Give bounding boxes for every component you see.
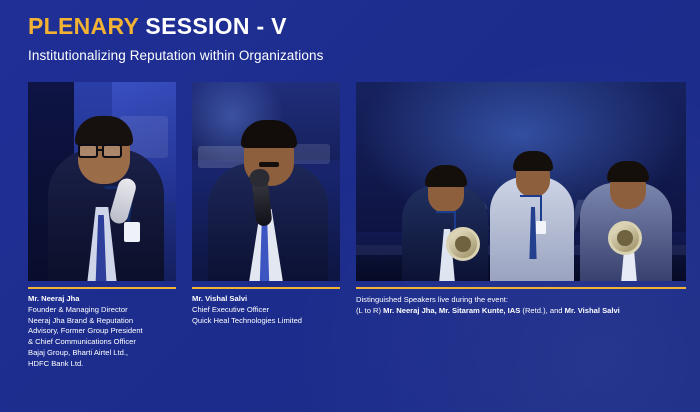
caption-rule-1	[28, 287, 176, 289]
page-title-rest: SESSION - V	[139, 13, 287, 39]
award-plaque-right	[608, 221, 642, 255]
caption-rule-3	[356, 287, 686, 289]
page-subtitle: Institutionalizing Reputation within Org…	[28, 48, 680, 63]
caption-1-line-3: Advisory, Former Group President	[28, 326, 178, 337]
person-neeraj-jha	[402, 149, 488, 281]
page-title: PLENARY SESSION - V	[28, 14, 680, 39]
caption-3: Distinguished Speakers live during the e…	[356, 294, 686, 317]
caption-3-heading: Distinguished Speakers live during the e…	[356, 294, 686, 305]
caption-1-line-6: HDFC Bank Ltd.	[28, 359, 178, 370]
caption-3-names-2: Mr. Vishal Salvi	[565, 306, 620, 315]
caption-3-rich: (L to R) Mr. Neeraj Jha, Mr. Sitaram Kun…	[356, 305, 686, 316]
photo-vishal-salvi-speaking	[192, 82, 340, 281]
person-vishal-salvi	[580, 147, 672, 281]
photo-distinguished-speakers-group: SCM	[356, 82, 686, 281]
caption-2: Mr. Vishal Salvi Chief Executive Officer…	[192, 294, 342, 326]
caption-1-line-1: Founder & Managing Director	[28, 305, 178, 316]
caption-1-line-5: Bajaj Group, Bharti Airtel Ltd.,	[28, 348, 178, 359]
caption-3-lr: (L to R)	[356, 306, 383, 315]
caption-1-line-4: & Chief Communications Officer	[28, 337, 178, 348]
caption-1-line-2: Neeraj Jha Brand & Reputation	[28, 316, 178, 327]
caption-3-retd: (Retd.), and	[522, 306, 564, 315]
page-title-accent: PLENARY	[28, 13, 139, 39]
speaker-card-2: Mr. Vishal Salvi Chief Executive Officer…	[192, 82, 340, 281]
award-plaque-left	[446, 227, 480, 261]
speaker-card-1: Mr. Neeraj Jha Founder & Managing Direct…	[28, 82, 176, 281]
person-sitaram-kunte	[490, 139, 574, 281]
speaker-card-3: SCM	[356, 82, 686, 281]
caption-3-names-1: Mr. Neeraj Jha, Mr. Sitaram Kunte, IAS	[383, 306, 522, 315]
caption-1-name: Mr. Neeraj Jha	[28, 294, 178, 305]
caption-2-name: Mr. Vishal Salvi	[192, 294, 342, 305]
caption-2-line-2: Quick Heal Technologies Limited	[192, 316, 342, 327]
slide-header: PLENARY SESSION - V Institutionalizing R…	[28, 14, 680, 63]
slide-page: PLENARY SESSION - V Institutionalizing R…	[0, 0, 700, 412]
caption-2-line-1: Chief Executive Officer	[192, 305, 342, 316]
photo-neeraj-jha-speaking	[28, 82, 176, 281]
caption-1: Mr. Neeraj Jha Founder & Managing Direct…	[28, 294, 178, 369]
caption-rule-2	[192, 287, 340, 289]
